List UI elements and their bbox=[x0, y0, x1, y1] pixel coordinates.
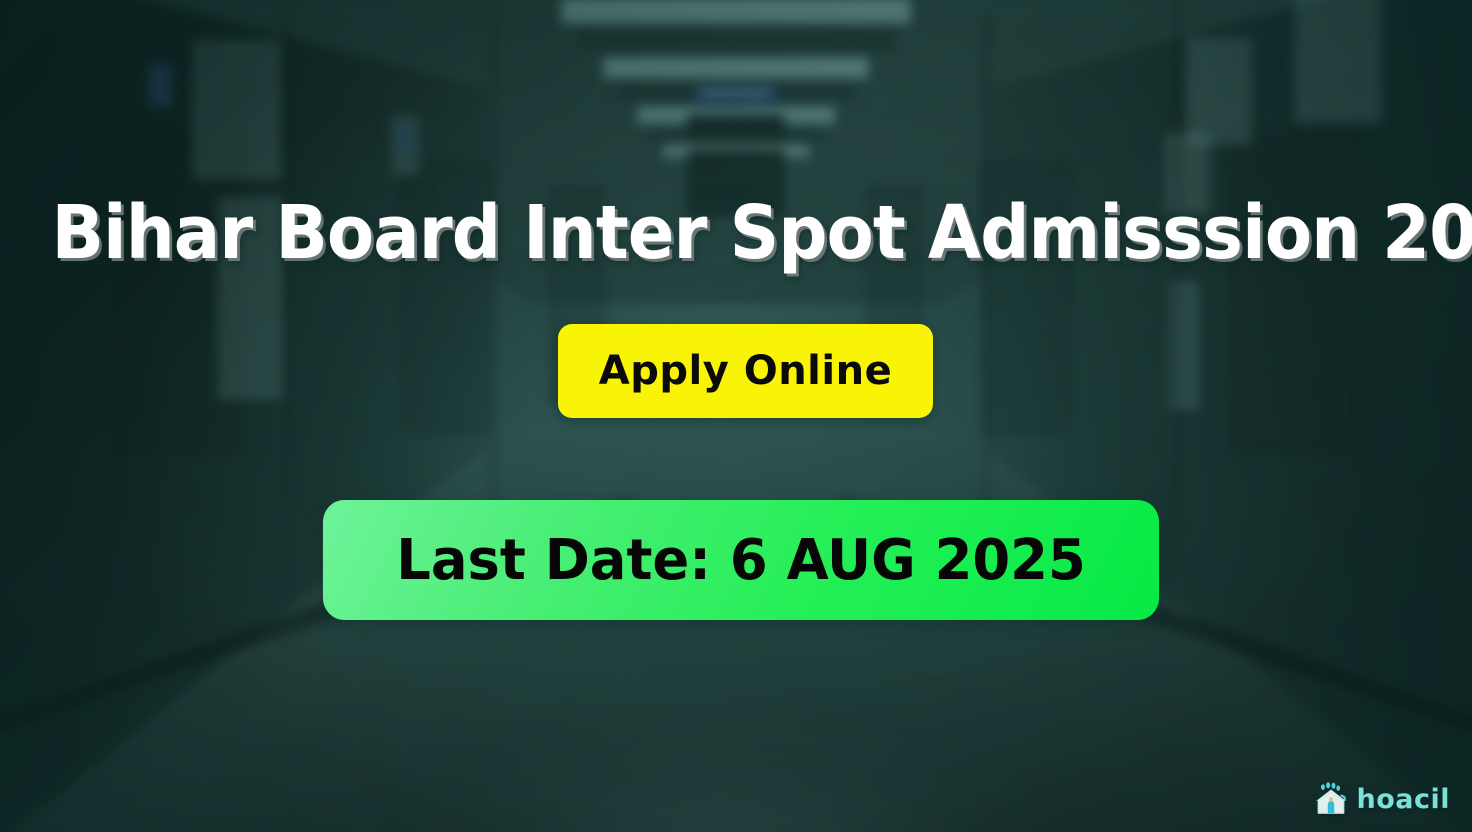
apply-online-button[interactable]: Apply Online bbox=[558, 324, 933, 418]
site-logo[interactable]: hoacil bbox=[1312, 780, 1450, 818]
page-title: Bihar Board Inter Spot Admisssion 2025 bbox=[52, 196, 1421, 270]
banner-content: Bihar Board Inter Spot Admisssion 2025 A… bbox=[0, 0, 1472, 832]
promo-banner: Bihar Board Inter Spot Admisssion 2025 A… bbox=[0, 0, 1472, 832]
last-date-badge: Last Date: 6 AUG 2025 bbox=[323, 500, 1159, 620]
logo-wordmark: hoacil bbox=[1356, 784, 1450, 815]
house-paw-icon bbox=[1312, 780, 1350, 818]
